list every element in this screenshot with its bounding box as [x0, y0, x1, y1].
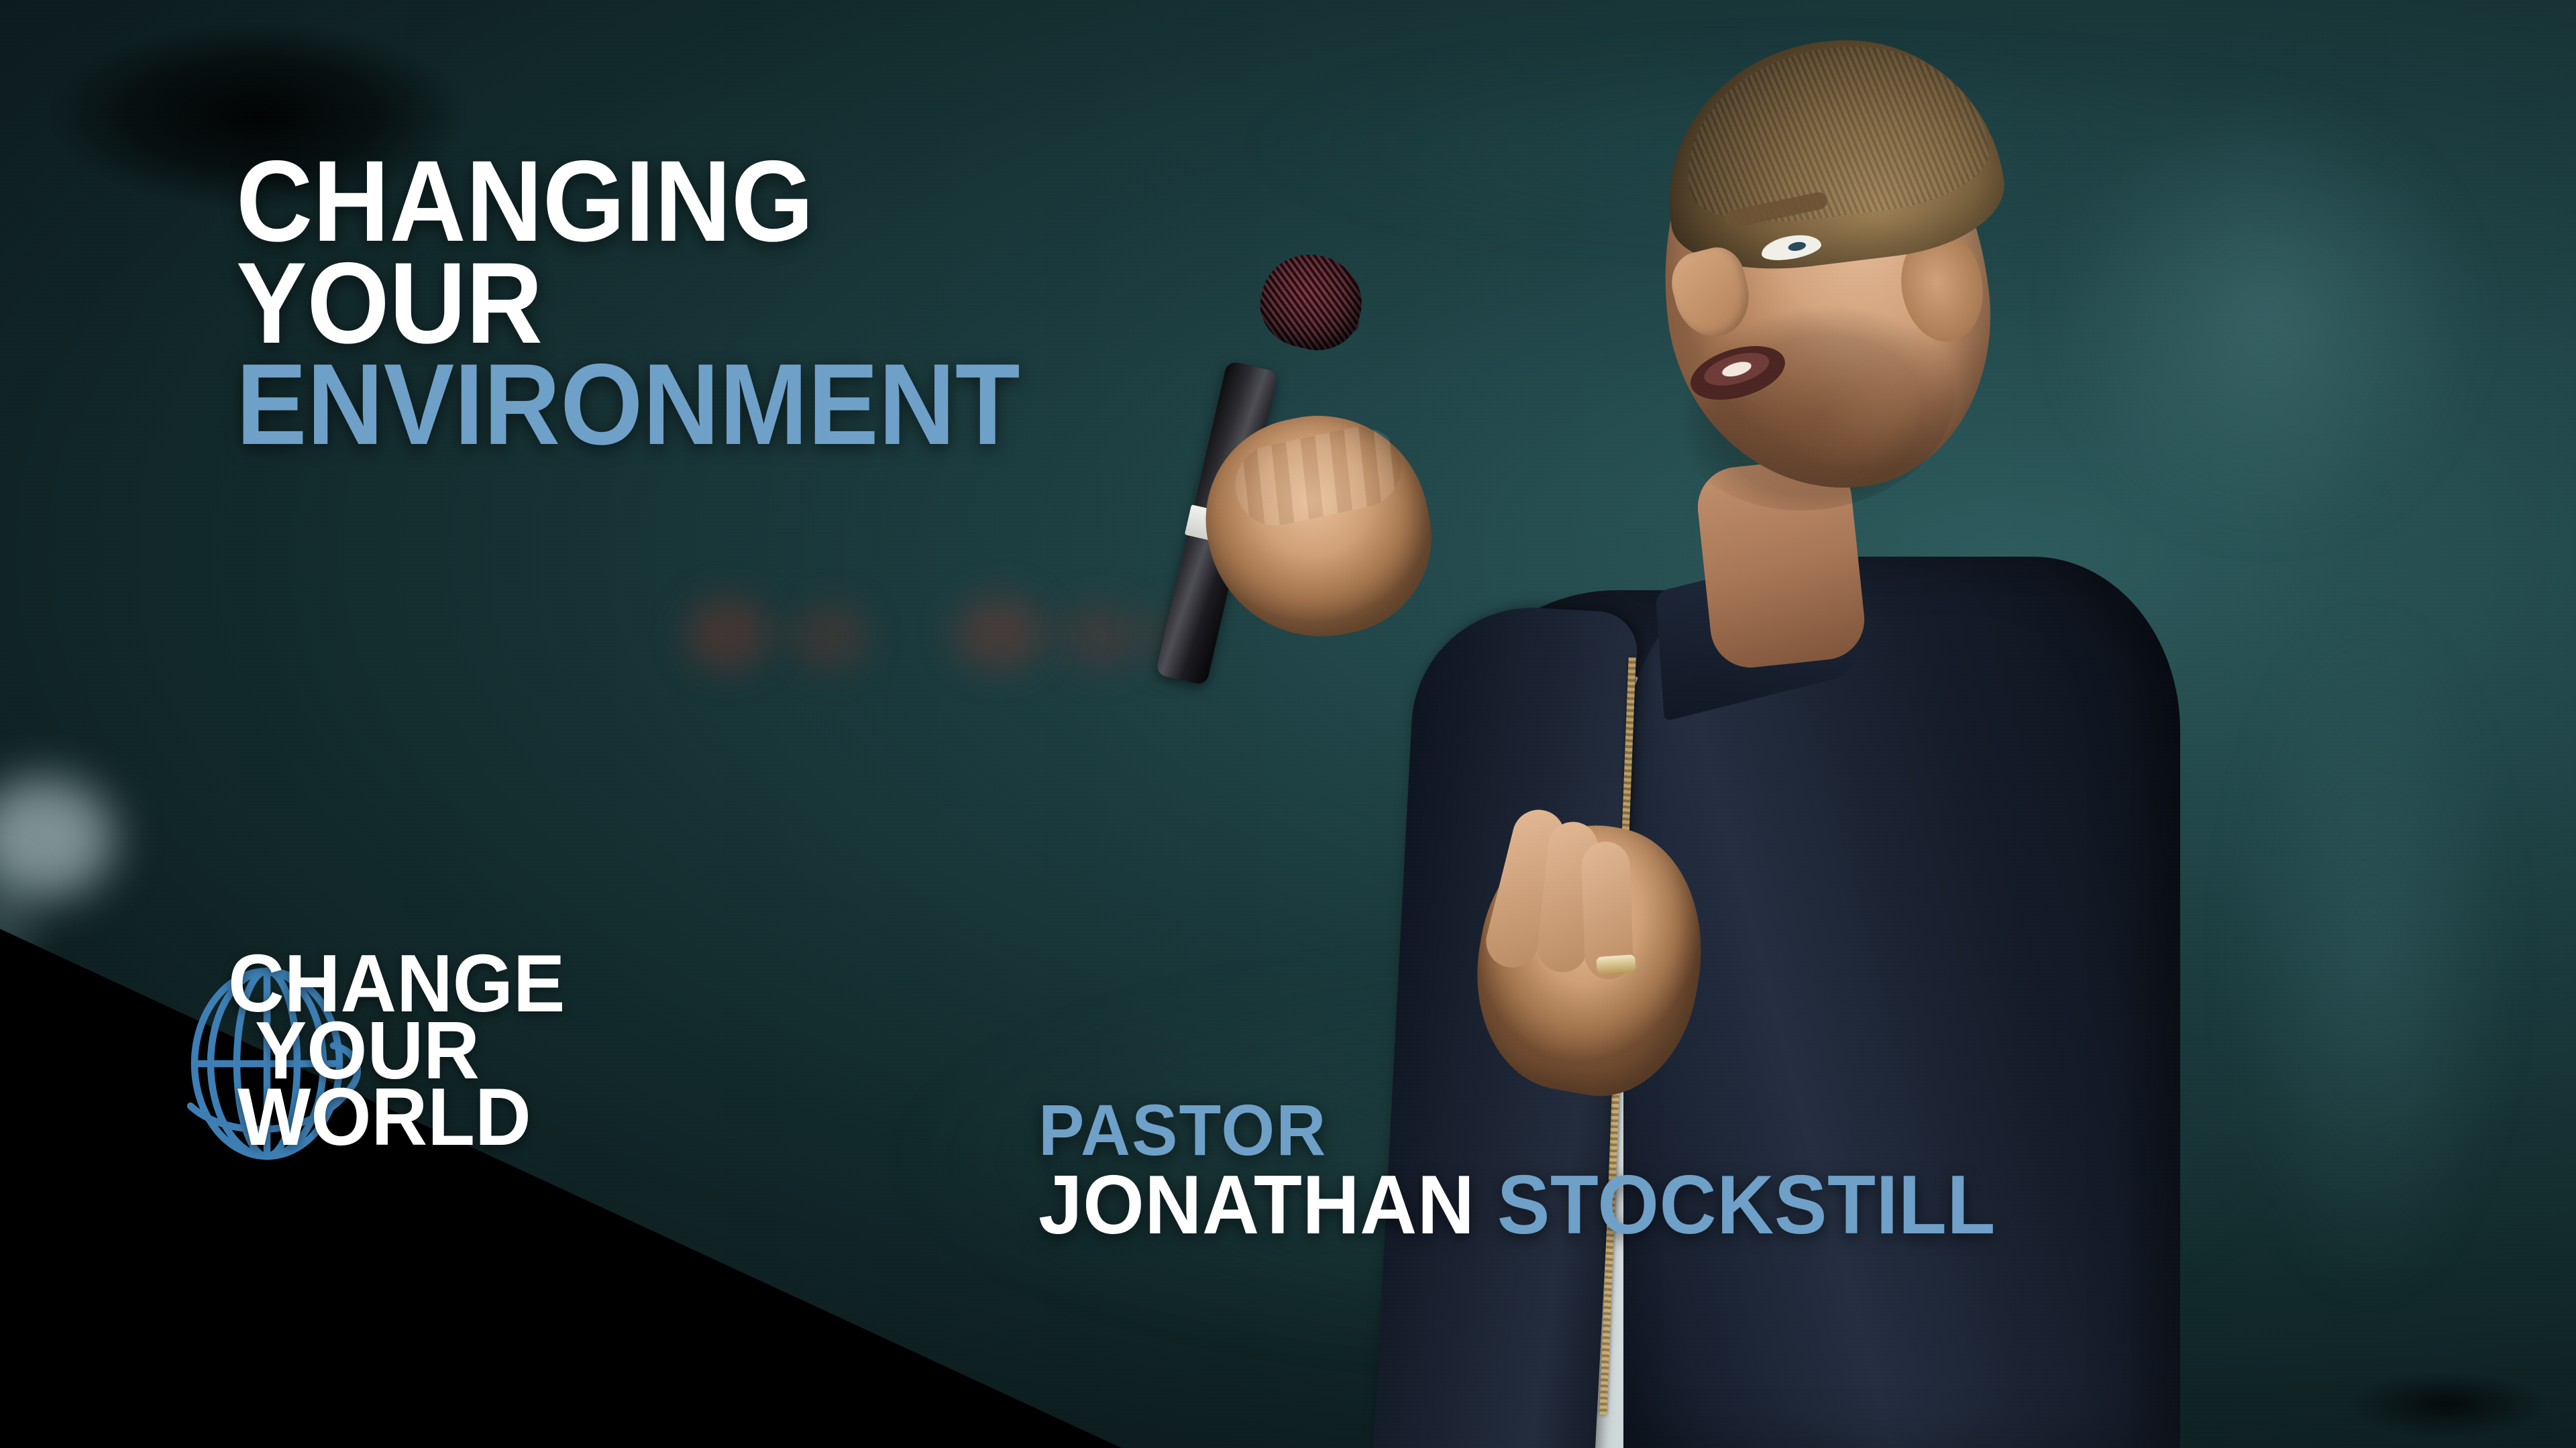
logo-wordmark: CHANGE YOUR WORLD [228, 951, 583, 1150]
change-your-world-logo: CHANGE YOUR WORLD [166, 951, 569, 1306]
logo-word-world: WORLD [237, 1084, 566, 1150]
sermon-title-card: CHANGING YOUR ENVIRONMENT CHANGE YOUR WO… [0, 0, 2576, 1448]
